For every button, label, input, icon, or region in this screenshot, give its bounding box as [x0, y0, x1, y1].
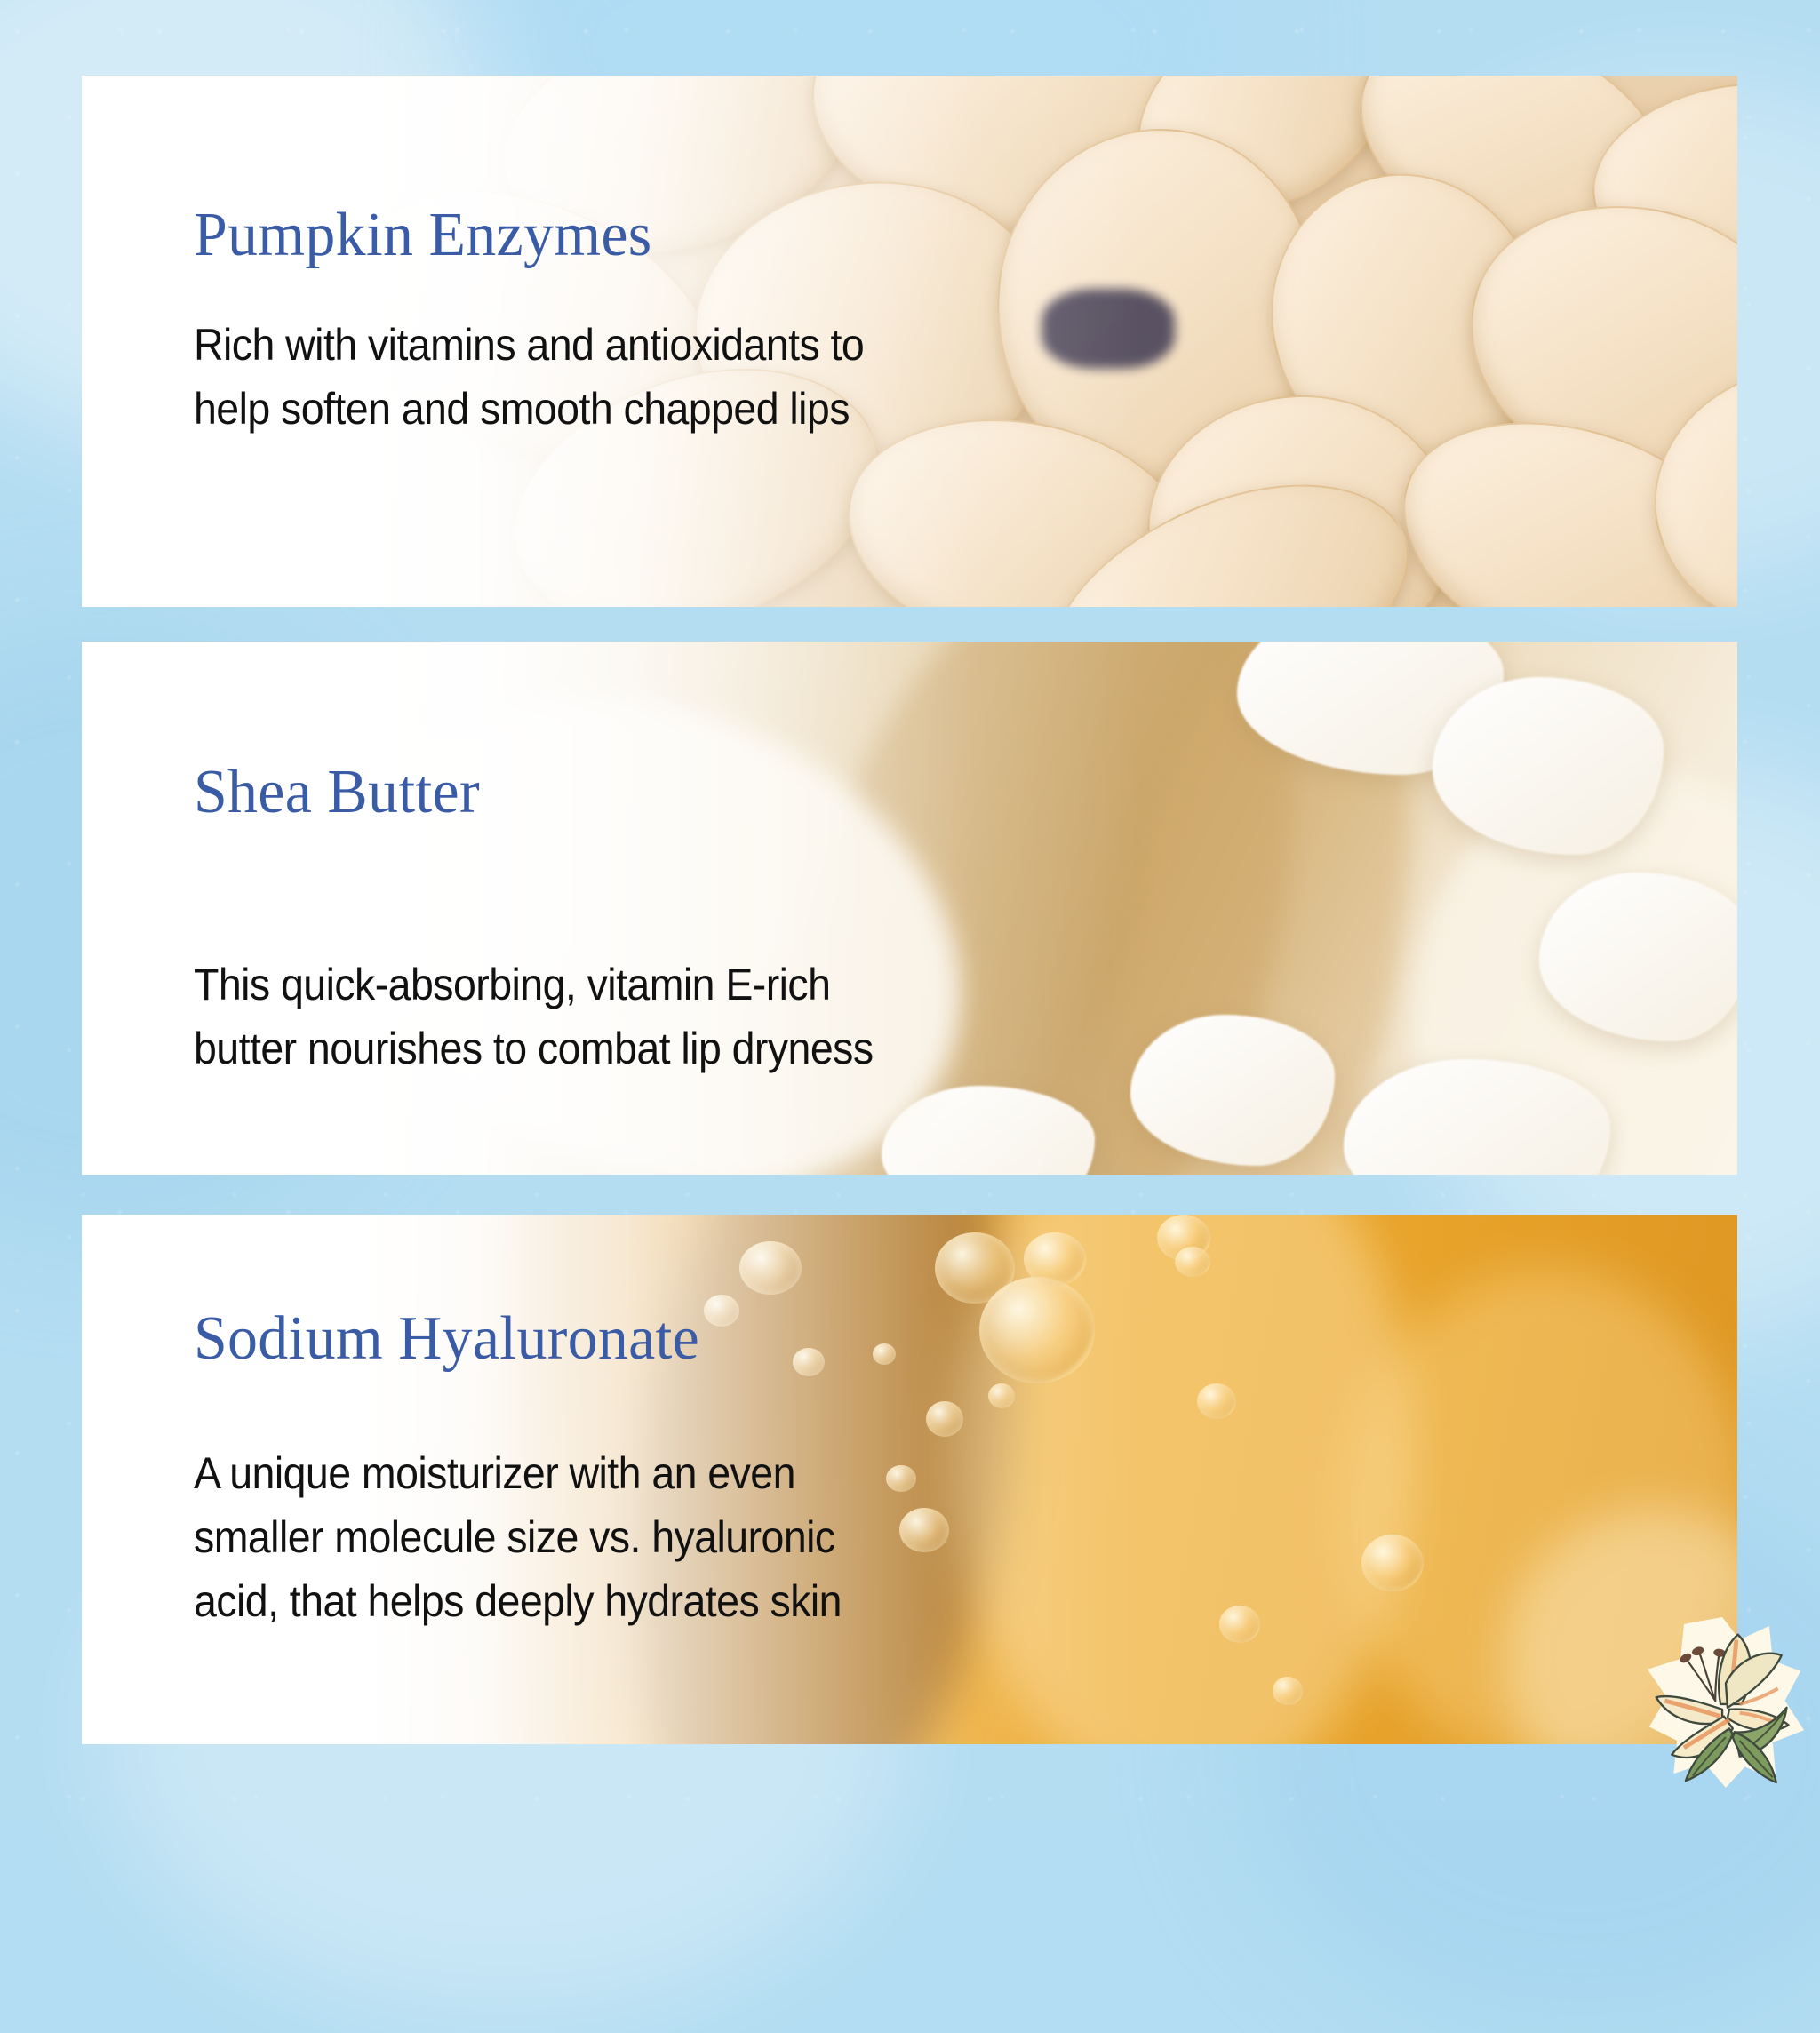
card-description-sodium: A unique moisturizer with an even smalle…: [194, 1441, 842, 1633]
ingredient-card-sodium: Sodium Hyaluronate A unique moisturizer …: [82, 1215, 1737, 1744]
card-title-shea: Shea Butter: [194, 757, 480, 828]
ingredient-card-shea: Shea Butter This quick-absorbing, vitami…: [82, 642, 1737, 1175]
lily-flower-icon: [1642, 1610, 1808, 1793]
card-description-shea: This quick-absorbing, vitamin E-rich but…: [194, 953, 874, 1080]
card-title-pumpkin: Pumpkin Enzymes: [194, 200, 651, 271]
card-title-sodium: Sodium Hyaluronate: [194, 1304, 699, 1375]
ingredient-card-pumpkin: Pumpkin Enzymes Rich with vitamins and a…: [82, 76, 1737, 607]
card-description-pumpkin: Rich with vitamins and antioxidants to h…: [194, 313, 864, 441]
